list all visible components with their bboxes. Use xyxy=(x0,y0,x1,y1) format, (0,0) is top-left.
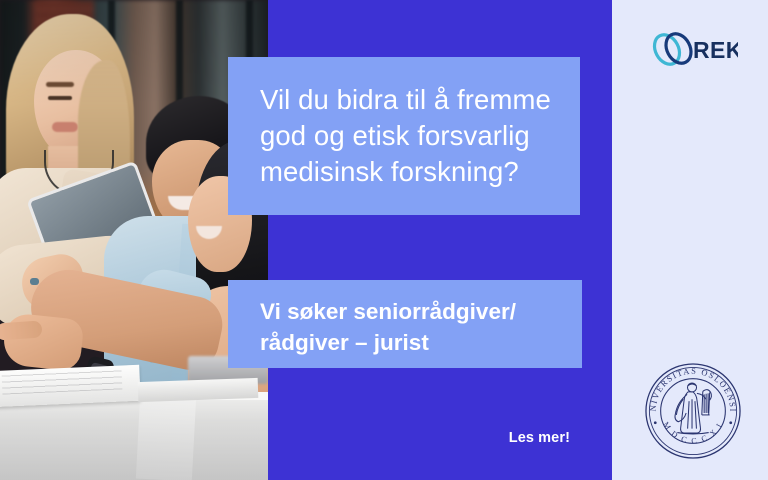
seal-top-legend: UNIVERSITAS OSLOENSIS xyxy=(644,362,738,413)
subheadline-text: Vi søker seniorrådgiver/ rådgiver – juri… xyxy=(260,296,572,358)
headline-text: Vil du bidra til å fremme god og etisk f… xyxy=(260,82,560,190)
uio-seal: UNIVERSITAS OSLOENSIS M D C C C X I xyxy=(644,362,742,460)
uio-seal-svg: UNIVERSITAS OSLOENSIS M D C C C X I xyxy=(644,362,742,460)
apollo-figure-icon xyxy=(675,383,711,434)
read-more-link[interactable]: Les mer! xyxy=(420,430,570,446)
recruitment-banner: REK UNIVERSITAS OSLOENSIS M D C C C X xyxy=(0,0,768,480)
headline-box: Vil du bidra til å fremme god og etisk f… xyxy=(228,57,580,215)
rek-logo-svg: REK xyxy=(650,28,738,70)
rek-logo: REK xyxy=(650,28,738,70)
subheadline-box: Vi søker seniorrådgiver/ rådgiver – juri… xyxy=(228,280,582,368)
rek-interlocking-rings-icon xyxy=(650,29,696,68)
rek-wordmark: REK xyxy=(693,37,738,63)
